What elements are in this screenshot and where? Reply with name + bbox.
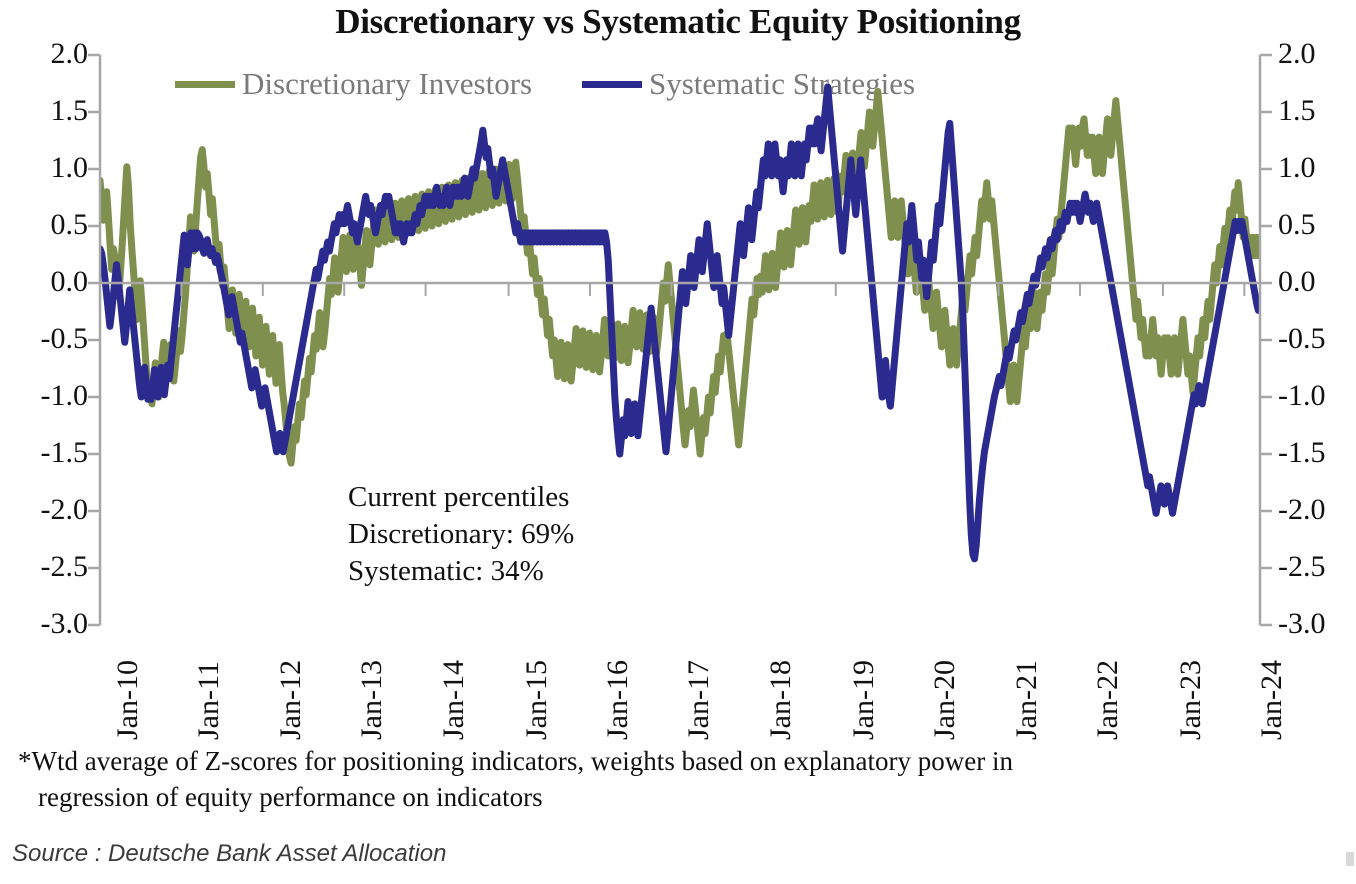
- footnote: *Wtd average of Z-scores for positioning…: [18, 744, 1248, 815]
- x-tick-label: Jan-15: [520, 660, 554, 740]
- x-tick-label: Jan-19: [847, 660, 881, 740]
- footnote-line-2: regression of equity performance on indi…: [18, 780, 1248, 816]
- x-tick-label: Jan-13: [355, 660, 389, 740]
- x-tick-label: Jan-23: [1174, 660, 1208, 740]
- x-tick-label: Jan-20: [928, 660, 962, 740]
- annotation-line-2: Discretionary: 69%: [348, 516, 574, 553]
- corner-artifact: [1346, 852, 1354, 866]
- x-tick-label: Jan-18: [764, 660, 798, 740]
- x-tick-label: Jan-16: [601, 660, 635, 740]
- x-tick-label: Jan-11: [192, 661, 226, 740]
- x-tick-label: Jan-22: [1091, 660, 1125, 740]
- current-percentiles-annotation: Current percentiles Discretionary: 69% S…: [348, 479, 574, 590]
- x-tick-label: Jan-14: [437, 660, 471, 740]
- source-note: Source : Deutsche Bank Asset Allocation: [12, 840, 446, 868]
- x-tick-label: Jan-17: [682, 660, 716, 740]
- footnote-line-1: *Wtd average of Z-scores for positioning…: [18, 744, 1248, 780]
- x-tick-label: Jan-12: [274, 660, 308, 740]
- x-tick-label: Jan-24: [1255, 660, 1289, 740]
- annotation-line-3: Systematic: 34%: [348, 553, 574, 590]
- annotation-line-1: Current percentiles: [348, 479, 574, 516]
- chart-page: Discretionary vs Systematic Equity Posit…: [0, 0, 1356, 884]
- x-tick-label: Jan-21: [1010, 660, 1044, 740]
- x-tick-label: Jan-10: [111, 660, 145, 740]
